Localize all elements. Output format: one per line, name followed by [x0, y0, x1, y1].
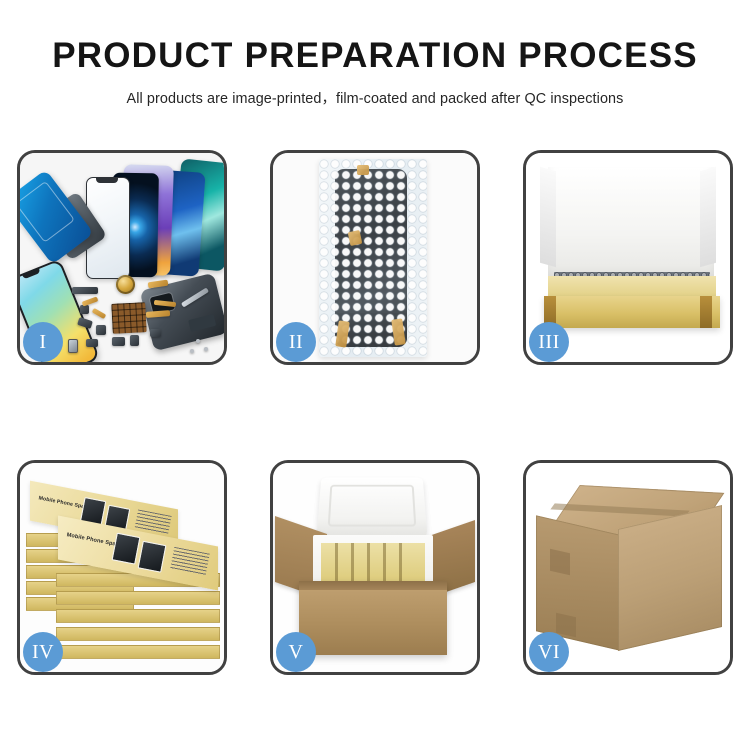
- tray-right-edge-icon: [700, 296, 712, 328]
- carton-right-face-icon: [618, 505, 722, 651]
- chip-icon: [150, 329, 161, 337]
- screen-thumbnail-icon: [112, 533, 141, 565]
- tray-front-icon: [544, 296, 720, 328]
- chip-icon: [96, 325, 106, 335]
- carton-tape-icon: [556, 613, 576, 638]
- carton-tape-icon: [550, 549, 570, 576]
- sim-tray-icon: [68, 339, 78, 353]
- bubble-texture-icon: [319, 159, 427, 357]
- process-panel-6[interactable]: VI: [523, 460, 733, 675]
- screw-icon: [190, 349, 194, 353]
- chip-icon: [86, 339, 98, 347]
- packed-boxes-icon: [321, 543, 425, 585]
- tray-top-edge-icon: [548, 276, 716, 298]
- chip-icon: [72, 287, 98, 294]
- page-subtitle: All products are image-printed，film-coat…: [0, 87, 750, 108]
- tape-icon: [357, 165, 369, 175]
- process-panel-2[interactable]: II: [270, 150, 480, 365]
- panel-2-badge: II: [276, 322, 316, 362]
- foam-lid-icon: [317, 478, 428, 537]
- panel-6-badge: VI: [529, 632, 569, 672]
- page-header: PRODUCT PREPARATION PROCESS All products…: [0, 0, 750, 108]
- panel-4-badge: IV: [23, 632, 63, 672]
- process-panel-grid: I II III: [17, 150, 733, 675]
- screw-icon: [204, 347, 208, 351]
- process-panel-3[interactable]: III: [523, 150, 733, 365]
- chip-icon: [130, 335, 139, 346]
- process-panel-5[interactable]: V: [270, 460, 480, 675]
- carton-body-icon: [299, 581, 447, 655]
- carton-left-face-icon: [536, 515, 620, 650]
- panel-1-badge: I: [23, 322, 63, 362]
- box-lid-right-flap-icon: [700, 167, 716, 268]
- process-panel-4[interactable]: Mobile Phone Spare Parts Mobile Phone Sp…: [17, 460, 227, 675]
- screw-icon: [196, 339, 200, 343]
- box-spec-lines: [170, 547, 210, 575]
- screen-thumbnail-icon: [138, 541, 167, 573]
- box-lid-left-flap-icon: [540, 167, 556, 268]
- panel-5-badge: V: [276, 632, 316, 672]
- tape-icon: [348, 230, 363, 246]
- page-title: PRODUCT PREPARATION PROCESS: [0, 38, 750, 75]
- chip-icon: [80, 305, 89, 314]
- process-panel-1[interactable]: I: [17, 150, 227, 365]
- speaker-disc-icon: [116, 275, 135, 294]
- chip-icon: [112, 337, 125, 346]
- panel-3-badge: III: [529, 322, 569, 362]
- box-lid-icon: [548, 167, 714, 279]
- logic-board-icon: [111, 302, 147, 334]
